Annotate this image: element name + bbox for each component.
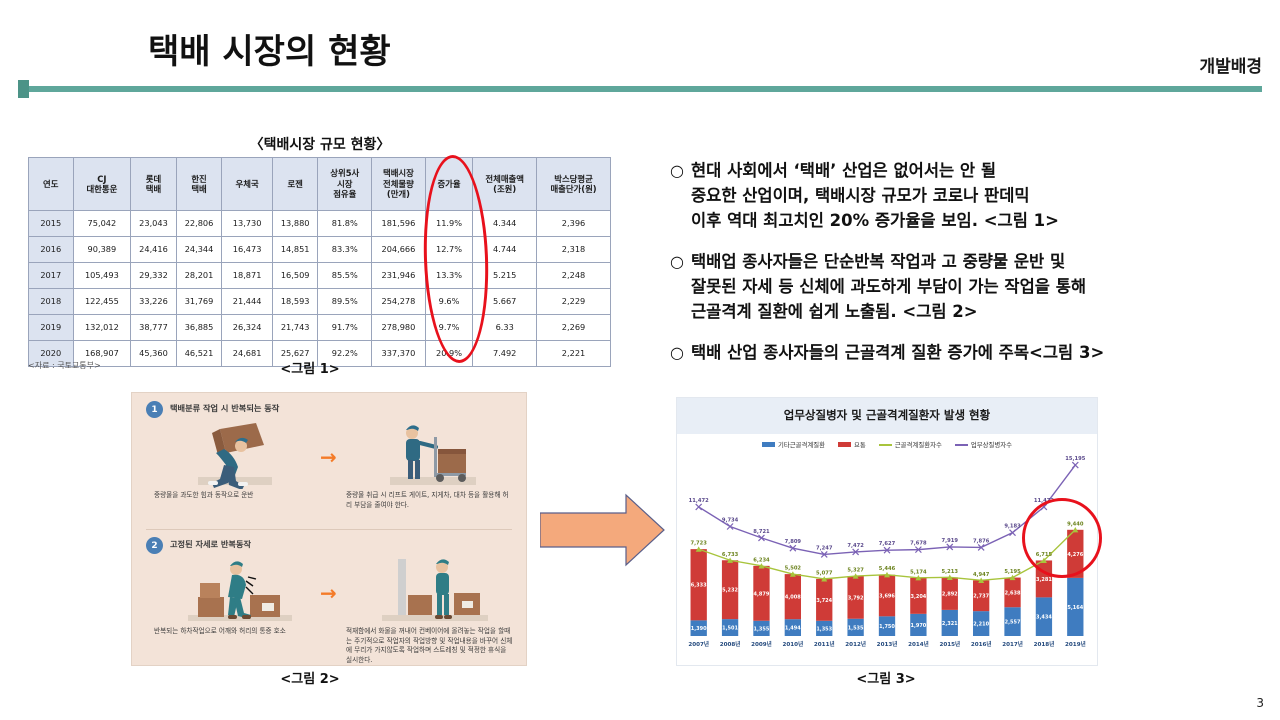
- data-label: 5,327: [847, 568, 864, 574]
- table-cell: 2,248: [537, 263, 611, 289]
- bullet-list: ○현대 사회에서 ‘택배’ 산업은 없어서는 안 될중요한 산업이며, 택배시장…: [670, 158, 1270, 381]
- table-body: 201575,04223,04322,80613,73013,88081.8%1…: [29, 211, 611, 367]
- table-row: 2018122,45533,22631,76921,44418,59389.5%…: [29, 289, 611, 315]
- step-title: 고정된 자세로 반복동작: [170, 538, 251, 550]
- table-cell: 12.7%: [425, 237, 473, 263]
- worker-carrying-box-art: [194, 419, 298, 489]
- table-cell: 11.9%: [425, 211, 473, 237]
- step2-left-caption: 반복되는 하차작업으로 어깨와 허리의 통증 호소: [154, 627, 314, 637]
- figure2-step-1: 1 택배분류 작업 시 반복되는 동작 →: [132, 393, 526, 529]
- data-label: 1,970: [910, 623, 926, 629]
- data-label: 5,232: [722, 588, 738, 594]
- x-axis-tick-label: 2009년: [746, 638, 777, 656]
- data-label: 7,876: [973, 538, 990, 544]
- table-cell: 45,360: [131, 341, 177, 367]
- col-header-postoffice: 우체국: [222, 158, 273, 211]
- table-cell: 24,416: [131, 237, 177, 263]
- legend-swatch-icon: [879, 444, 892, 446]
- table-cell: 18,593: [272, 289, 318, 315]
- table-caption: 〈택배시장 규모 현황〉: [30, 134, 610, 154]
- table-row: 201690,38924,41624,34416,47314,85183.3%2…: [29, 237, 611, 263]
- data-label: 11,472: [689, 498, 709, 504]
- table-cell: 4.744: [473, 237, 537, 263]
- table-cell: 254,278: [372, 289, 426, 315]
- table-cell: 91.7%: [318, 315, 372, 341]
- chart-title: 업무상질병자 및 근골격계질환자 발생 현황: [677, 407, 1097, 423]
- table-cell: 2,269: [537, 315, 611, 341]
- data-label: 9,734: [722, 517, 739, 523]
- bullet-line: 현대 사회에서 ‘택배’ 산업은 없어서는 안 될: [691, 158, 1059, 183]
- data-label: 2,557: [1005, 620, 1021, 626]
- data-label: 5,174: [910, 569, 927, 575]
- figure2-divider: [146, 529, 512, 530]
- bullet-line: 잘못된 자세 등 신체에 과도하게 부담이 가는 작업을 통해: [691, 274, 1086, 299]
- table-cell: 5.667: [473, 289, 537, 315]
- x-axis-tick-label: 2018년: [1028, 638, 1059, 656]
- legend-label: 업무상질병자수: [971, 440, 1012, 449]
- data-label: 1,494: [785, 626, 801, 632]
- table-cell-year: 2016: [29, 237, 74, 263]
- line-marker-green: [696, 546, 702, 551]
- line-marker-purple: [1010, 530, 1016, 536]
- table-cell: 21,743: [272, 315, 318, 341]
- x-axis-tick-label: 2015년: [934, 638, 965, 656]
- figure2-step1-arrow: →: [320, 445, 337, 469]
- data-label: 1,355: [754, 626, 770, 632]
- table-cell: 4.344: [473, 211, 537, 237]
- table-cell: 9.7%: [425, 315, 473, 341]
- header-divider: [18, 86, 1262, 92]
- table-row: 2017105,49329,33228,20118,87116,50985.5%…: [29, 263, 611, 289]
- data-label: 5,213: [942, 569, 959, 575]
- table-cell: 2,229: [537, 289, 611, 315]
- figure2-illustration-panel: 1 택배분류 작업 시 반복되는 동작 →: [131, 392, 527, 666]
- bullet-line: 중요한 산업이며, 택배시장 규모가 코로나 판데믹: [691, 183, 1059, 208]
- table-cell: 81.8%: [318, 211, 372, 237]
- step2-right-caption: 적재함에서 화물을 꺼내어 컨베이어에 올려놓는 작업을 할때는 주기적으로 작…: [346, 627, 514, 665]
- chart-plot-area: 1,3906,3331,5015,2321,3554,8791,4944,008…: [683, 456, 1091, 636]
- table-cell: 29,332: [131, 263, 177, 289]
- data-label: 2,892: [942, 592, 958, 598]
- table-cell-year: 2017: [29, 263, 74, 289]
- x-axis-tick-label: 2014년: [903, 638, 934, 656]
- table-cell: 2,396: [537, 211, 611, 237]
- x-axis-tick-label: 2010년: [777, 638, 808, 656]
- data-label: 8,721: [753, 529, 770, 535]
- data-label: 1,353: [816, 626, 832, 632]
- col-header-logen: 로젠: [272, 158, 318, 211]
- table-cell: 132,012: [73, 315, 131, 341]
- flow-arrow-icon: [540, 493, 665, 567]
- data-label: 4,947: [973, 572, 990, 578]
- col-header-lotte: 롯데택배: [131, 158, 177, 211]
- data-label: 5,502: [785, 566, 802, 572]
- legend-item: 요통: [838, 440, 866, 449]
- data-label: 6,715: [1036, 552, 1053, 558]
- data-label: 7,627: [879, 541, 896, 547]
- legend-label: 기타근골격계질환: [778, 440, 825, 449]
- table-cell: 36,885: [176, 315, 222, 341]
- bullet-line: 택배 산업 종사자들의 근골격계 질환 증가에 주목<그림 3>: [691, 340, 1104, 365]
- legend-swatch-icon: [838, 442, 851, 447]
- table-cell: 6.33: [473, 315, 537, 341]
- figure1-caption: <그림 1>: [230, 358, 390, 377]
- data-label: 3,281: [1036, 577, 1052, 583]
- legend-swatch-icon: [762, 442, 775, 447]
- section-label: 개발배경: [1199, 52, 1262, 77]
- data-label: 3,724: [816, 598, 832, 604]
- x-axis-tick-label: 2008년: [714, 638, 745, 656]
- data-label: 7,919: [942, 538, 959, 544]
- header-divider-cap: [18, 80, 29, 98]
- figure2-step-2: 2 고정된 자세로 반복동작 →: [132, 529, 526, 665]
- x-axis-tick-label: 2019년: [1060, 638, 1091, 656]
- col-header-year: 연도: [29, 158, 74, 211]
- table-cell: 16,509: [272, 263, 318, 289]
- step1-left-caption: 중량물을 과도한 힘과 동작으로 운반: [154, 491, 314, 501]
- legend-item: 업무상질병자수: [955, 440, 1012, 449]
- table-cell-year: 2019: [29, 315, 74, 341]
- table-cell: 33,226: [131, 289, 177, 315]
- table-cell: 38,777: [131, 315, 177, 341]
- market-size-table: 연도 CJ대한통운 롯데택배 한진택배 우체국 로젠 상위5사시장점유율 택배시…: [28, 157, 611, 367]
- bullet-marker-icon: ○: [670, 158, 684, 233]
- data-label: 2,210: [973, 622, 989, 628]
- step-title: 택배분류 작업 시 반복되는 동작: [170, 402, 279, 414]
- legend-item: 기타근골격계질환: [762, 440, 825, 449]
- data-label: 6,234: [753, 557, 770, 563]
- table-cell: 90,389: [73, 237, 131, 263]
- table-cell: 85.5%: [318, 263, 372, 289]
- data-label: 15,195: [1065, 456, 1085, 462]
- data-label: 6,733: [722, 552, 739, 558]
- page-title: 택배 시장의 현황: [148, 24, 391, 73]
- col-header-growth-rate: 증가율: [425, 158, 473, 211]
- bullet-item-1: ○현대 사회에서 ‘택배’ 산업은 없어서는 안 될중요한 산업이며, 택배시장…: [670, 158, 1270, 233]
- data-label: 3,204: [910, 594, 926, 600]
- table-cell: 204,666: [372, 237, 426, 263]
- worker-with-handcart-art: [380, 419, 484, 489]
- data-label: 1,390: [691, 626, 707, 632]
- step-number-badge: 2: [146, 537, 163, 554]
- data-label: 5,446: [879, 566, 896, 572]
- bullet-marker-icon: ○: [670, 249, 684, 324]
- line-marker-green: [1072, 527, 1078, 532]
- slide-header: 택배 시장의 현황 개발배경: [0, 0, 1280, 96]
- table-cell: 21,444: [222, 289, 273, 315]
- table-source-note: <자료 : 국토교통부>: [28, 360, 101, 371]
- data-label: 5,195: [1004, 569, 1021, 575]
- table-cell: 83.3%: [318, 237, 372, 263]
- x-axis-tick-label: 2013년: [871, 638, 902, 656]
- data-label: 7,472: [847, 543, 864, 549]
- bullet-line: 택배업 종사자들은 단순반복 작업과 고 중량물 운반 및: [691, 249, 1086, 274]
- data-label: 9,183: [1004, 524, 1021, 530]
- figure3-caption: <그림 3>: [826, 668, 946, 687]
- table-cell: 7.492: [473, 341, 537, 367]
- legend-label: 요통: [854, 440, 866, 449]
- table-cell: 24,344: [176, 237, 222, 263]
- x-axis-tick-label: 2007년: [683, 638, 714, 656]
- table-cell: 231,946: [372, 263, 426, 289]
- line-marker-purple: [1041, 504, 1047, 510]
- table-cell: 46,521: [176, 341, 222, 367]
- table-cell-year: 2015: [29, 211, 74, 237]
- data-label: 5,077: [816, 570, 833, 576]
- table-cell: 20.9%: [425, 341, 473, 367]
- data-label: 1,501: [722, 626, 738, 632]
- table-cell: 2,318: [537, 237, 611, 263]
- bullet-item-3: ○택배 산업 종사자들의 근골격계 질환 증가에 주목<그림 3>: [670, 340, 1270, 365]
- page-number: 3: [1256, 696, 1264, 710]
- table-cell: 181,596: [372, 211, 426, 237]
- worker-back-pain-art: [184, 553, 298, 625]
- data-label: 3,434: [1036, 615, 1052, 621]
- table-cell: 9.6%: [425, 289, 473, 315]
- data-label: 9,440: [1067, 521, 1084, 527]
- table-cell: 31,769: [176, 289, 222, 315]
- line-marker-purple: [727, 523, 733, 529]
- chart-legend: 기타근골격계질환요통근골격계질환자수업무상질병자수: [677, 440, 1097, 449]
- data-label: 2,638: [1005, 590, 1021, 596]
- legend-swatch-icon: [955, 444, 968, 446]
- table-cell: 13,880: [272, 211, 318, 237]
- worker-upright-conveyor-art: [380, 553, 490, 625]
- table-cell: 13,730: [222, 211, 273, 237]
- data-label: 4,879: [754, 591, 770, 597]
- table-header-row: 연도 CJ대한통운 롯데택배 한진택배 우체국 로젠 상위5사시장점유율 택배시…: [29, 158, 611, 211]
- data-label: 5,164: [1067, 605, 1083, 611]
- table-cell: 2,221: [537, 341, 611, 367]
- x-axis-tick-label: 2012년: [840, 638, 871, 656]
- table-cell: 75,042: [73, 211, 131, 237]
- data-label: 3,696: [879, 594, 895, 600]
- figure2-caption: <그림 2>: [250, 668, 370, 687]
- data-label: 1,750: [879, 624, 895, 630]
- chart-x-axis: 2007년2008년2009년2010년2011년2012년2013년2014년…: [683, 638, 1091, 656]
- table-cell: 89.5%: [318, 289, 372, 315]
- legend-item: 근골격계질환자수: [879, 440, 942, 449]
- col-header-avg-unit-price: 박스당평균매출단가(원): [537, 158, 611, 211]
- figure3-chart-panel: 업무상질병자 및 근골격계질환자 발생 현황 기타근골격계질환요통근골격계질환자…: [676, 397, 1098, 666]
- col-header-cj: CJ대한통운: [73, 158, 131, 211]
- col-header-total-volume: 택배시장전체물량(만개): [372, 158, 426, 211]
- table-cell: 23,043: [131, 211, 177, 237]
- legend-label: 근골격계질환자수: [895, 440, 942, 449]
- table-row: 2019132,01238,77736,88526,32421,74391.7%…: [29, 315, 611, 341]
- data-label: 2,321: [942, 621, 958, 627]
- data-label: 2,737: [973, 594, 989, 600]
- table-cell: 105,493: [73, 263, 131, 289]
- table-cell-year: 2018: [29, 289, 74, 315]
- col-header-top5-share: 상위5사시장점유율: [318, 158, 372, 211]
- data-label: 7,723: [690, 541, 707, 547]
- line-marker-purple: [1072, 462, 1078, 468]
- table-cell: 5.215: [473, 263, 537, 289]
- bullet-line: 이후 역대 최고치인 20% 증가율을 보임. <그림 1>: [691, 208, 1059, 233]
- line-marker-purple: [696, 504, 702, 510]
- table-cell: 278,980: [372, 315, 426, 341]
- bullet-item-2: ○택배업 종사자들은 단순반복 작업과 고 중량물 운반 및잘못된 자세 등 신…: [670, 249, 1270, 324]
- data-label: 7,678: [910, 541, 927, 547]
- table-cell: 122,455: [73, 289, 131, 315]
- data-label: 4,008: [785, 595, 801, 601]
- data-label: 11,473: [1034, 498, 1054, 504]
- table-cell: 16,473: [222, 237, 273, 263]
- x-axis-tick-label: 2016년: [966, 638, 997, 656]
- step1-right-caption: 중량물 취급 시 리프트 게이트, 지게차, 대차 등을 활용해 허리 부담을 …: [346, 491, 514, 510]
- bullet-text: 현대 사회에서 ‘택배’ 산업은 없어서는 안 될중요한 산업이며, 택배시장 …: [691, 158, 1059, 233]
- step-number-badge: 1: [146, 401, 163, 418]
- table-cell: 28,201: [176, 263, 222, 289]
- table-cell: 26,324: [222, 315, 273, 341]
- data-label: 7,247: [816, 545, 833, 551]
- data-label: 7,809: [785, 539, 802, 545]
- data-label: 1,535: [848, 625, 864, 631]
- bullet-line: 근골격계 질환에 쉽게 노출됨. <그림 2>: [691, 299, 1086, 324]
- table-cell: 14,851: [272, 237, 318, 263]
- data-label: 6,333: [691, 583, 707, 589]
- bullet-marker-icon: ○: [670, 340, 684, 365]
- data-label: 4,276: [1067, 552, 1083, 558]
- col-header-hanjin: 한진택배: [176, 158, 222, 211]
- bullet-text: 택배 산업 종사자들의 근골격계 질환 증가에 주목<그림 3>: [691, 340, 1104, 365]
- x-axis-tick-label: 2011년: [809, 638, 840, 656]
- table-row: 201575,04223,04322,80613,73013,88081.8%1…: [29, 211, 611, 237]
- table-cell: 13.3%: [425, 263, 473, 289]
- bullet-text: 택배업 종사자들은 단순반복 작업과 고 중량물 운반 및잘못된 자세 등 신체…: [691, 249, 1086, 324]
- data-label: 3,792: [848, 595, 864, 601]
- table-cell: 22,806: [176, 211, 222, 237]
- table-cell: 18,871: [222, 263, 273, 289]
- figure2-step2-arrow: →: [320, 581, 337, 605]
- x-axis-tick-label: 2017년: [997, 638, 1028, 656]
- col-header-total-sales: 전체매출액(조원): [473, 158, 537, 211]
